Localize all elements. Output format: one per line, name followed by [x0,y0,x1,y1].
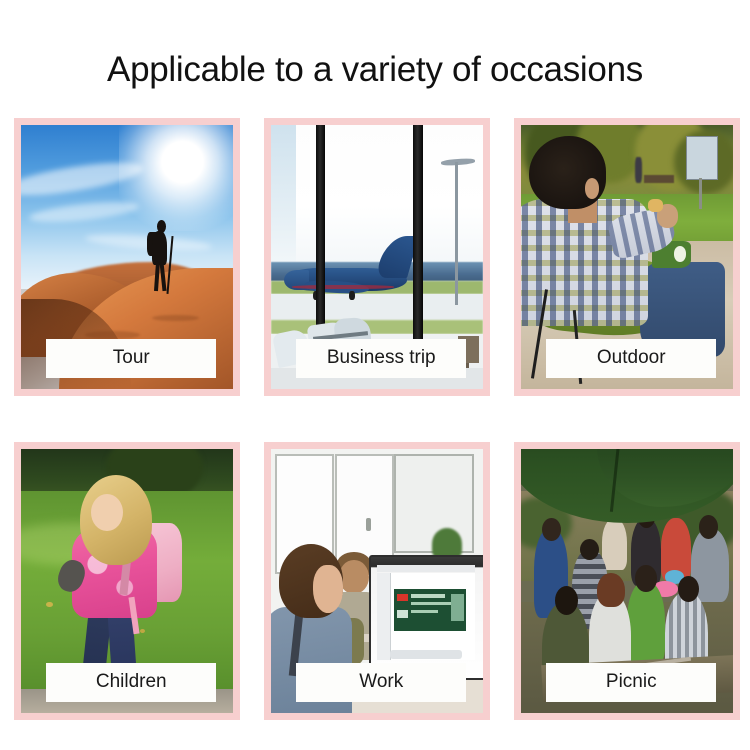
monitor-text-line [411,602,453,605]
sun-glare-icon [119,125,233,231]
worker-face [313,565,343,613]
runway [271,294,483,320]
sand-ripple [85,331,140,339]
landing-gear [349,291,355,300]
monitor-panel [451,594,464,620]
card-label-tour: Tour [46,339,216,378]
card-label-outdoor: Outdoor [546,339,716,378]
monitor-dock [390,650,462,659]
page-title: Applicable to a variety of occasions [0,47,750,93]
window-mullion [413,125,423,363]
photo-business-trip: Business trip [271,125,483,389]
occasions-grid: Tour [14,118,740,720]
light-pole [455,162,458,305]
photo-work: Work [271,449,483,713]
photo-children: Children [21,449,233,713]
monitor-toolbar [377,565,475,572]
park-signboard [686,136,718,180]
park-bench [644,175,674,183]
photo-tour: Tour [21,125,233,389]
monitor-logo-icon [397,594,408,601]
person-head [678,576,699,602]
person-head [597,573,625,607]
occasion-card-tour[interactable]: Tour [14,118,240,396]
person-standing [602,518,627,571]
monitor-text-line [411,594,445,598]
card-label-children: Children [46,663,216,702]
photo-picnic: Picnic [521,449,733,713]
sky-left-tint [271,125,296,273]
bright-sky [271,125,483,273]
hiker-head [157,220,166,233]
occasion-card-outdoor[interactable]: Outdoor [514,118,740,396]
monitor-sidebar [377,573,391,660]
card-label-picnic: Picnic [546,663,716,702]
person-head [699,515,718,539]
monitor-thumbnail [397,610,408,618]
distant-person [635,157,641,183]
grass-strip [271,320,483,333]
occasion-card-work[interactable]: Work [264,442,490,720]
person-green-shirt [627,581,665,665]
card-label-business-trip: Business trip [296,339,466,378]
child-face [91,494,123,531]
occasion-card-picnic[interactable]: Picnic [514,442,740,720]
window-handle [366,518,371,531]
coworker-head [339,560,369,594]
person-head [635,565,656,591]
airplane-stripe [292,285,394,289]
card-label-work: Work [296,663,466,702]
photo-outdoor: Outdoor [521,125,733,389]
occasion-card-children[interactable]: Children [14,442,240,720]
snack-item [648,199,663,212]
monitor-text-line [411,610,439,613]
hiker-body [152,231,167,265]
signboard-post [699,178,702,210]
occasion-card-business-trip[interactable]: Business trip [264,118,490,396]
